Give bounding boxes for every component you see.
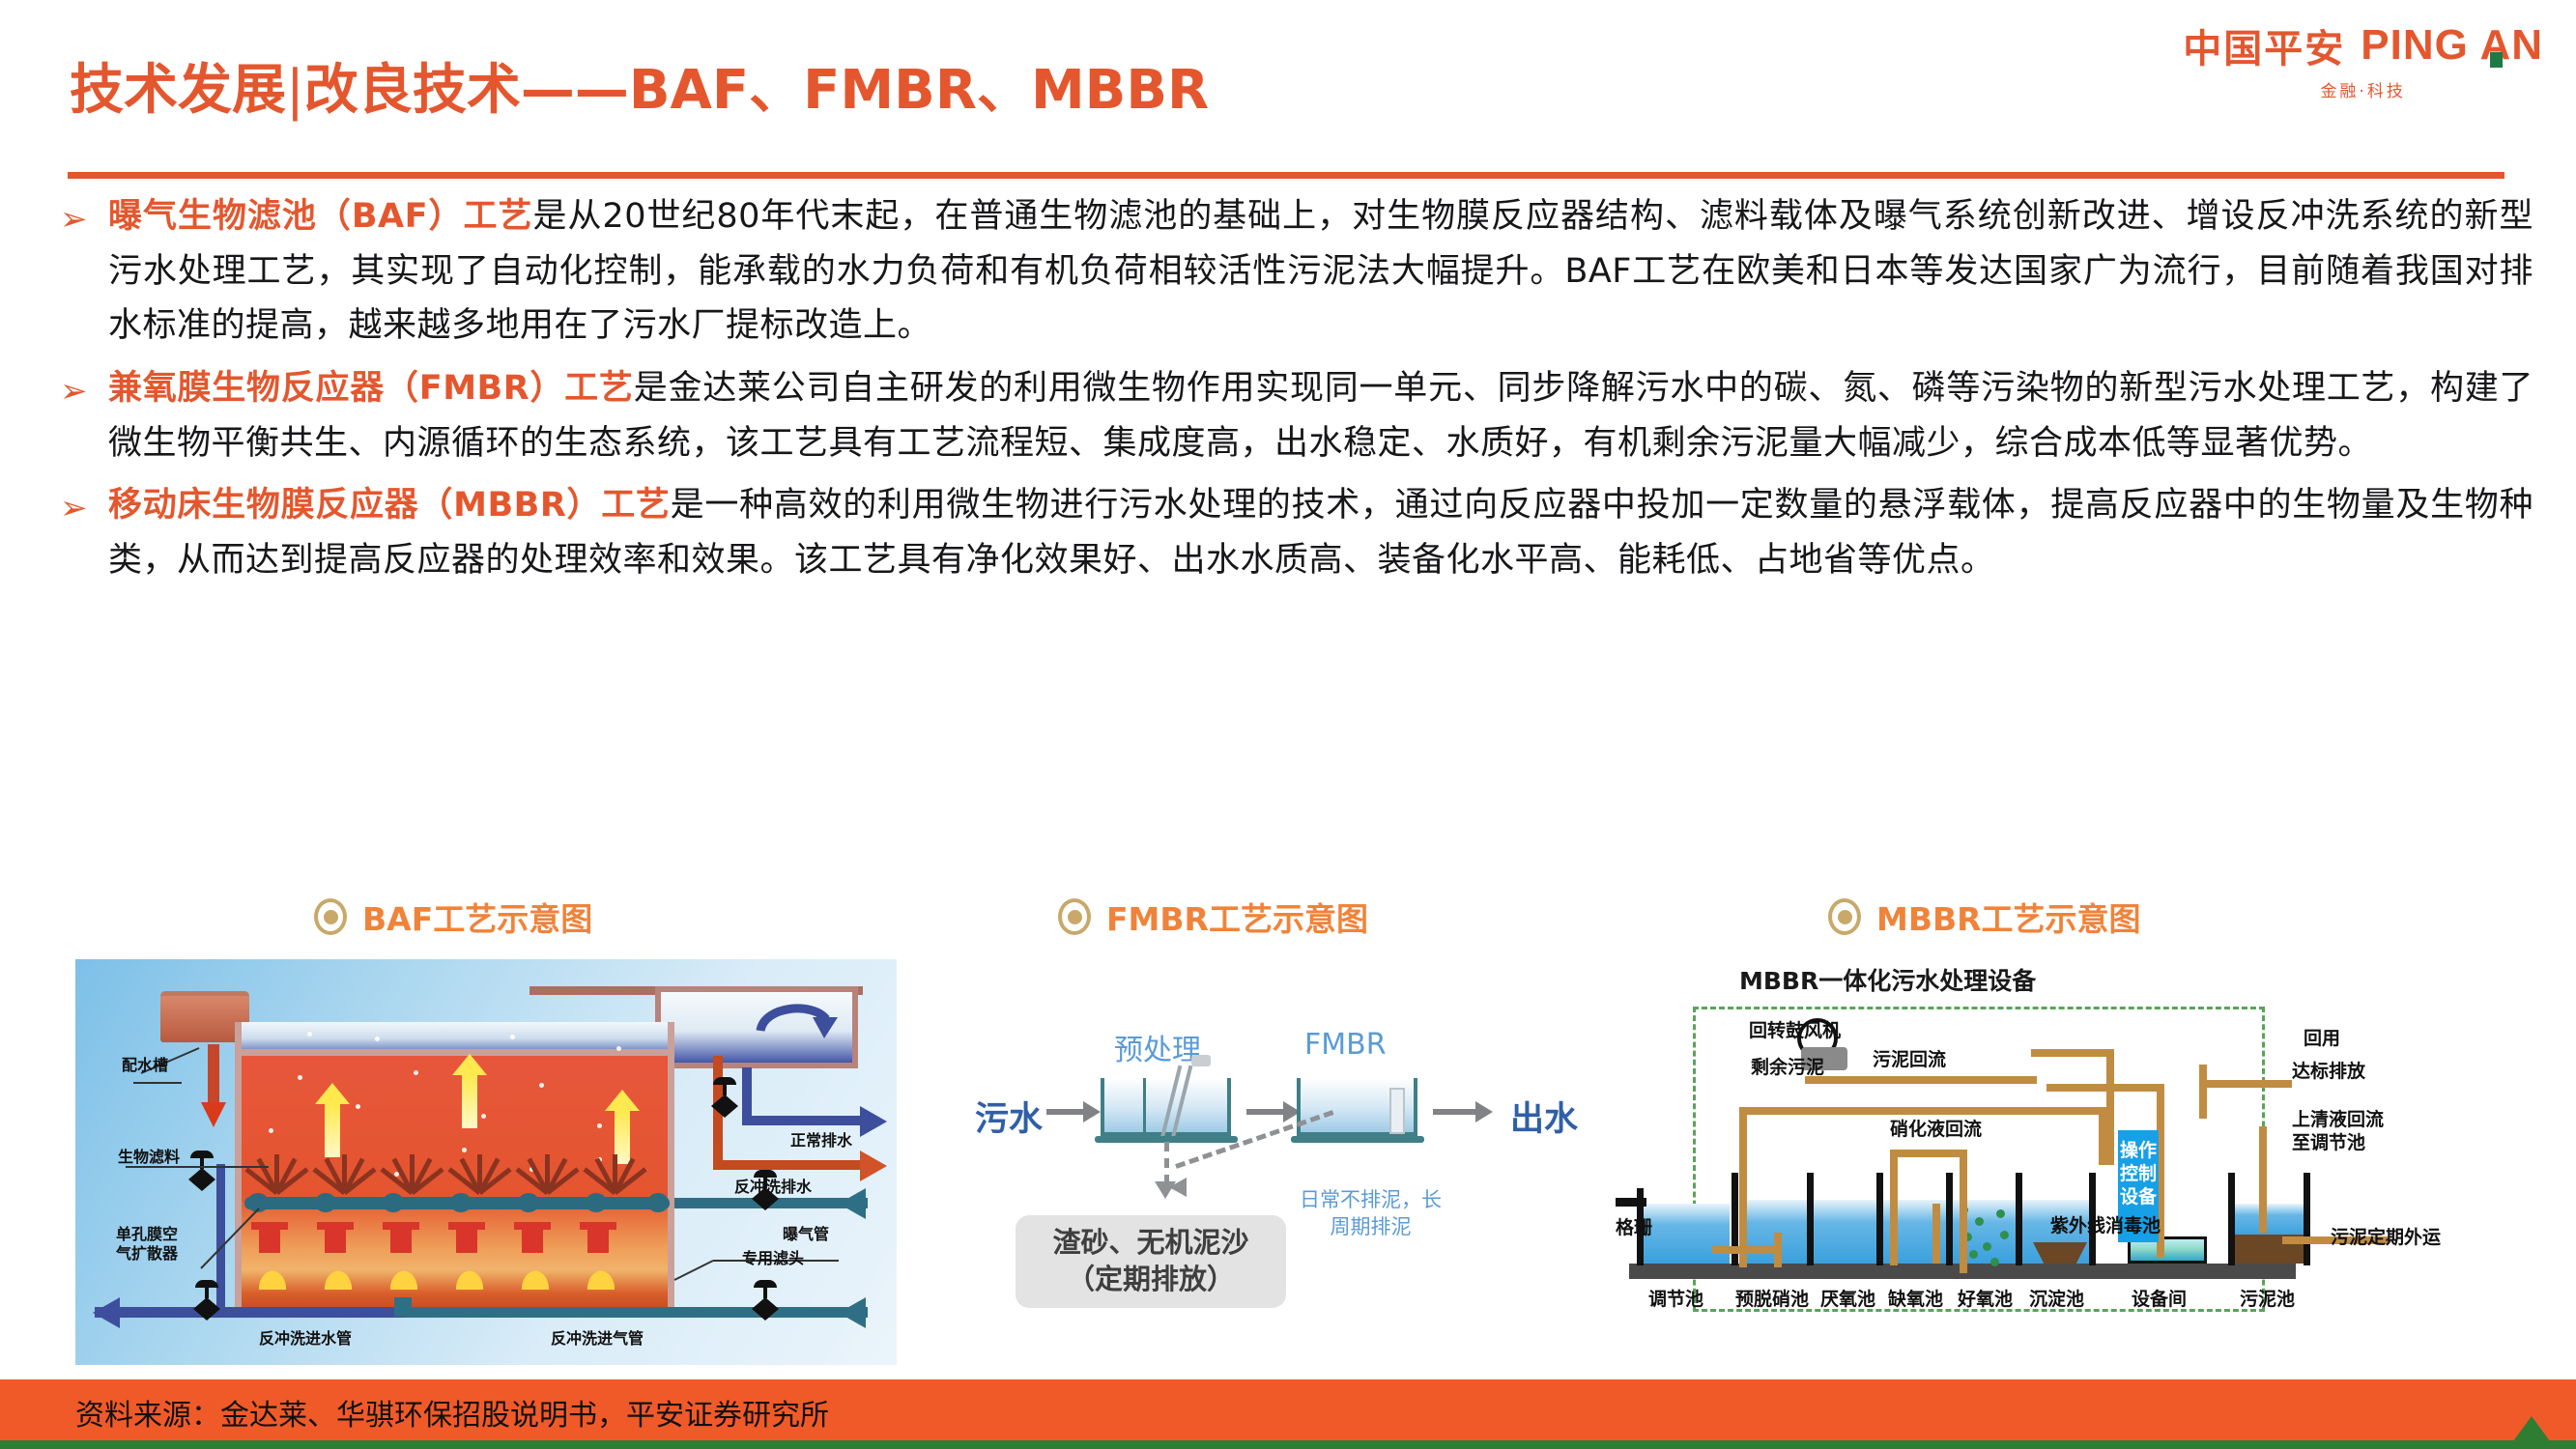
pingan-logo: 中国平安 PING AN 金融·科技 bbox=[2183, 17, 2543, 101]
fmbr-label-sludge-note: 日常不排泥，长 周期排泥 bbox=[1300, 1186, 1442, 1241]
mbbr-pool-label: 污泥池 bbox=[2240, 1285, 2295, 1311]
logo-english-name: PING AN bbox=[2361, 21, 2543, 70]
mbbr-pool-label: 调节池 bbox=[1648, 1285, 1703, 1311]
fmbr-label-influent: 污水 bbox=[975, 1092, 1043, 1141]
title-underline bbox=[68, 172, 2504, 179]
footer-green-strip bbox=[0, 1440, 2576, 1449]
mbbr-diagram-title: MBBR一体化污水处理设备 bbox=[1739, 962, 2036, 997]
fmbr-label-pretreatment: 预处理 bbox=[1114, 1026, 1201, 1068]
mbbr-pool-label: 好氧池 bbox=[1958, 1285, 2013, 1311]
caption-baf: BAF工艺示意图 bbox=[314, 894, 592, 940]
bullet-circle-icon bbox=[314, 898, 347, 935]
mbbr-pool-water bbox=[1641, 1204, 1730, 1264]
bullet-marker-icon: ➢ bbox=[60, 492, 88, 525]
bullet-fmbr: ➢ 兼氧膜生物反应器（FMBR）工艺是金达莱公司自主研发的利用微生物作用实现同一… bbox=[60, 361, 2533, 470]
title-prefix: 技术发展 bbox=[70, 59, 286, 122]
bullet-text: 兼氧膜生物反应器（FMBR）工艺是金达莱公司自主研发的利用微生物作用实现同一单元… bbox=[108, 361, 2533, 470]
baf-label-backwash-inlet-water: 反冲洗进水管 bbox=[259, 1329, 352, 1349]
fmbr-process-diagram: 污水 预处理 FMBR 出水 日常不排泥，长 周期排泥 渣砂、无机泥沙 （定期排… bbox=[971, 995, 1609, 1323]
mbbr-label-uv-tank: 紫外线消毒池 bbox=[2050, 1215, 2161, 1238]
logo-tagline: 金融·科技 bbox=[2183, 77, 2543, 101]
mbbr-pool-label: 厌氧池 bbox=[1820, 1285, 1875, 1311]
baf-label-aeration-pipe: 曝气管 bbox=[783, 1225, 829, 1244]
fmbr-arrow-2-icon bbox=[1246, 1109, 1285, 1115]
bullet-circle-icon bbox=[1828, 898, 1861, 935]
bullet-highlight: 兼氧膜生物反应器（FMBR）工艺 bbox=[108, 369, 634, 408]
bullet-text: 移动床生物膜反应器（MBBR）工艺是一种高效的利用微生物进行污水处理的技术，通过… bbox=[108, 478, 2533, 587]
logo-green-accent bbox=[2490, 52, 2503, 68]
bullet-baf: ➢ 曝气生物滤池（BAF）工艺是从20世纪80年代末起，在普通生物滤池的基础上，… bbox=[60, 189, 2533, 354]
baf-label-backwash-drain: 反冲洗排水 bbox=[734, 1178, 812, 1197]
mbbr-label-standard-discharge: 达标排放 bbox=[2292, 1061, 2365, 1084]
mbbr-pool-water bbox=[1813, 1200, 1878, 1264]
footer-source-text: 资料来源：金达莱、华骐环保招股说明书，平安证券研究所 bbox=[75, 1391, 829, 1434]
mbbr-label-reuse: 回用 bbox=[2304, 1028, 2340, 1051]
fmbr-arrow-1-icon bbox=[1046, 1109, 1085, 1115]
mbbr-label-blower: 回转鼓风机 bbox=[1749, 1020, 1841, 1043]
mbbr-pool-water bbox=[2234, 1204, 2307, 1236]
caption-fmbr-label: FMBR工艺示意图 bbox=[1106, 894, 1368, 940]
bullet-marker-icon: ➢ bbox=[60, 375, 88, 408]
caption-fmbr: FMBR工艺示意图 bbox=[1058, 894, 1368, 940]
baf-label-special-filter-head: 专用滤头 bbox=[742, 1249, 804, 1268]
caption-baf-label: BAF工艺示意图 bbox=[362, 894, 592, 940]
mbbr-label-grille: 格珊 bbox=[1616, 1217, 1652, 1240]
baf-label-backwash-inlet-air: 反冲洗进气管 bbox=[551, 1329, 644, 1349]
mbbr-label-sludge-return: 污泥回流 bbox=[1873, 1049, 1946, 1072]
bullet-list: ➢ 曝气生物滤池（BAF）工艺是从20世纪80年代末起，在普通生物滤池的基础上，… bbox=[60, 189, 2533, 596]
fmbr-label-effluent: 出水 bbox=[1510, 1092, 1578, 1141]
logo-english-text: PING AN bbox=[2361, 21, 2543, 69]
baf-process-diagram: 配水槽 生物滤料 单孔膜空 气扩散器 正常排水 反冲洗排水 曝气管 专用滤头 反… bbox=[75, 959, 897, 1365]
mbbr-label-supernatant-return: 上清液回流 至调节池 bbox=[2292, 1109, 2384, 1155]
mbbr-label-sludge-transport: 污泥定期外运 bbox=[2331, 1227, 2441, 1250]
bullet-mbbr: ➢ 移动床生物膜反应器（MBBR）工艺是一种高效的利用微生物进行污水处理的技术，… bbox=[60, 478, 2533, 587]
caption-mbbr-label: MBBR工艺示意图 bbox=[1876, 894, 2141, 940]
caption-mbbr: MBBR工艺示意图 bbox=[1828, 894, 2141, 940]
page-title: 技术发展|改良技术——BAF、FMBR、MBBR bbox=[70, 46, 1209, 125]
bullet-highlight: 移动床生物膜反应器（MBBR）工艺 bbox=[108, 486, 671, 525]
fmbr-waste-box-label: 渣砂、无机泥沙 （定期排放） bbox=[1031, 1225, 1271, 1297]
baf-label-normal-drain: 正常排水 bbox=[790, 1131, 852, 1151]
mbbr-pool-label: 设备间 bbox=[2132, 1285, 2187, 1311]
bullet-highlight: 曝气生物滤池（BAF）工艺 bbox=[108, 197, 532, 236]
bullet-marker-icon: ➢ bbox=[60, 203, 88, 236]
mbbr-pool-label: 预脱硝池 bbox=[1735, 1285, 1809, 1311]
title-separator: | bbox=[286, 59, 304, 122]
baf-label-distribution-trough: 配水槽 bbox=[122, 1056, 168, 1075]
fmbr-arrow-3-icon bbox=[1433, 1109, 1477, 1115]
mbbr-pool-label: 缺氧池 bbox=[1888, 1285, 1943, 1311]
mbbr-label-excess-sludge: 剩余污泥 bbox=[1751, 1057, 1824, 1080]
slide: 中国平安 PING AN 金融·科技 技术发展|改良技术——BAF、FMBR、M… bbox=[0, 0, 2576, 1449]
mbbr-pool-label: 沉淀池 bbox=[2029, 1285, 2084, 1311]
baf-leader-lines bbox=[75, 959, 897, 1365]
fmbr-waste-box: 渣砂、无机泥沙 （定期排放） bbox=[1016, 1215, 1286, 1308]
mbbr-label-nitrification-return: 硝化液回流 bbox=[1890, 1119, 1982, 1142]
bullet-text: 曝气生物滤池（BAF）工艺是从20世纪80年代末起，在普通生物滤池的基础上，对生… bbox=[108, 189, 2533, 354]
mbbr-process-diagram: MBBR一体化污水处理设备 bbox=[1616, 956, 2504, 1343]
fmbr-label-fmbr: FMBR bbox=[1304, 1028, 1387, 1062]
baf-label-single-hole-diffuser: 单孔膜空 气扩散器 bbox=[116, 1225, 178, 1264]
bullet-circle-icon bbox=[1058, 898, 1091, 935]
footer-bar: 资料来源：金达莱、华骐环保招股说明书，平安证券研究所 bbox=[0, 1379, 2576, 1449]
title-main: 改良技术——BAF、FMBR、MBBR bbox=[304, 59, 1209, 122]
logo-chinese-name: 中国平安 bbox=[2183, 17, 2345, 73]
baf-label-biological-media: 生物滤料 bbox=[118, 1148, 180, 1167]
